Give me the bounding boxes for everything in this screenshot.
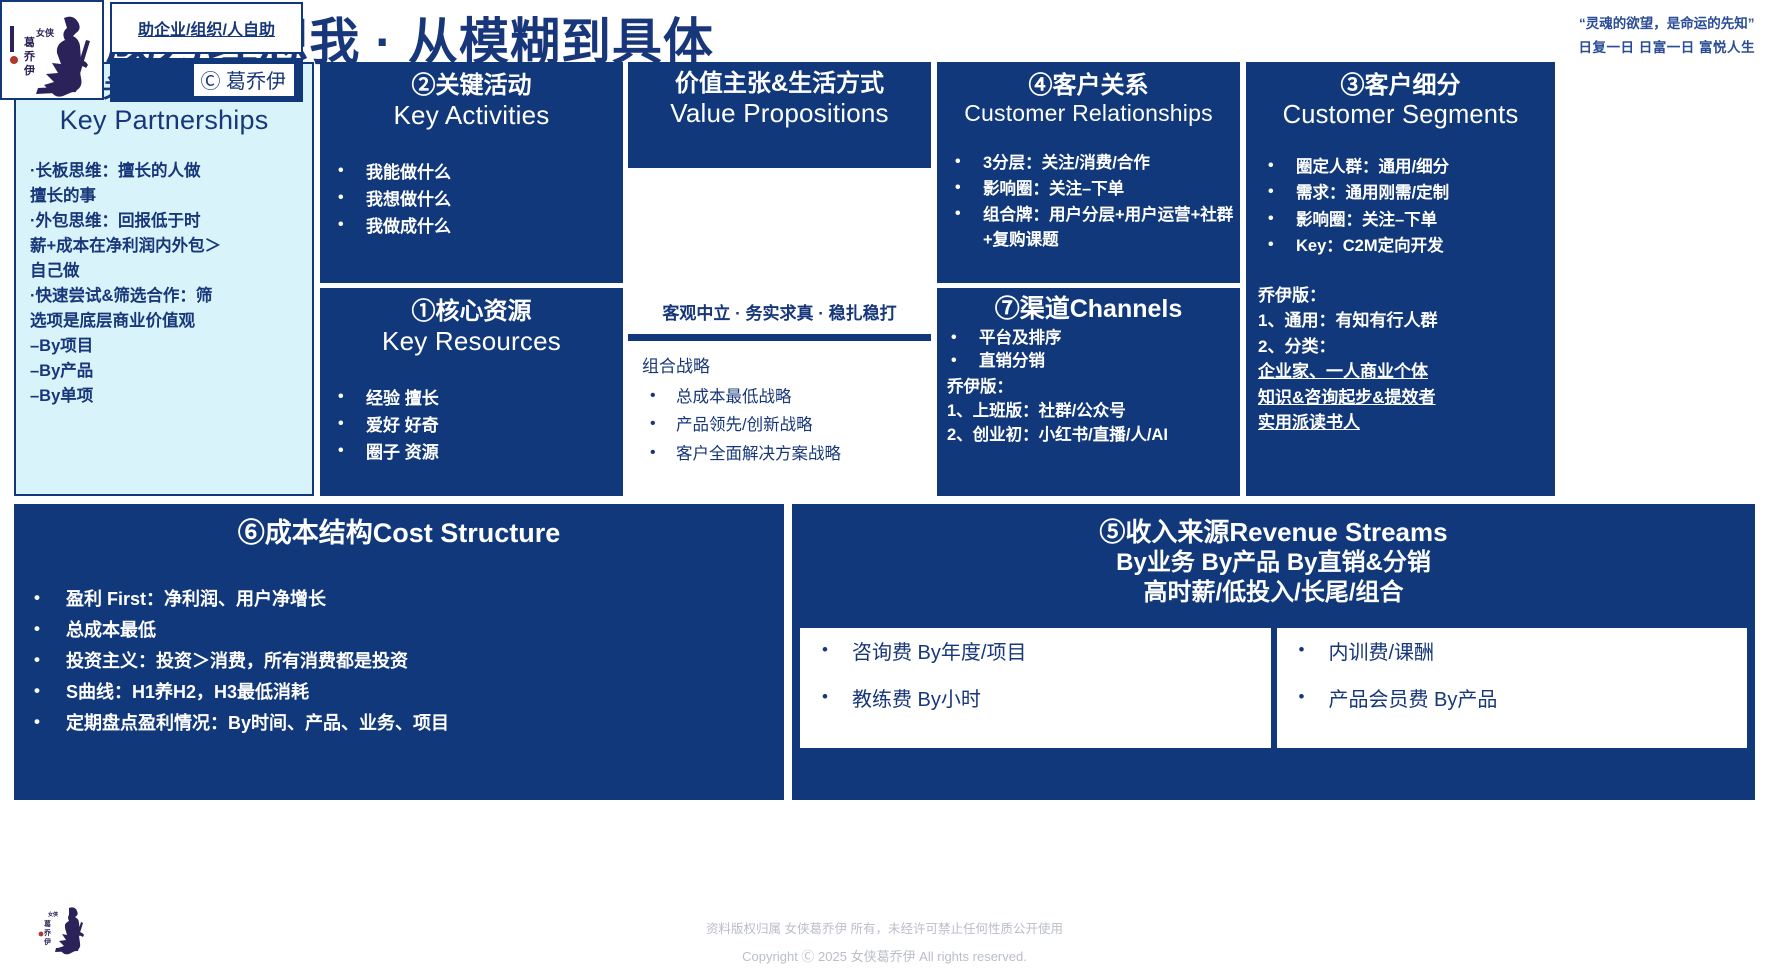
list-item: 我想做什么 bbox=[320, 186, 623, 213]
panel-cost-structure[interactable]: ⑥成本结构Cost Structure 盈利 First：净利润、用户净增长 总… bbox=[14, 504, 784, 800]
channels-notes: 乔伊版： 1、上班版：社群/公众号 2、创业初：小红书/直播/人/AI bbox=[937, 376, 1240, 448]
slide-canvas: 1.3 成为理想我 · 从模糊到具体 “灵魂的欲望，是命运的先知” 日复一日 日… bbox=[0, 0, 1769, 972]
value-proposition-motto: 客观中立 · 务实求真 · 稳扎稳打 bbox=[628, 290, 931, 332]
panel-customer-relationships[interactable]: ④客户关系 Customer Relationships 3分层：关注/消费/合… bbox=[937, 62, 1240, 283]
list-item: 产品领先/创新战略 bbox=[628, 411, 931, 439]
key-activities-heading: ②关键活动 Key Activities bbox=[320, 72, 623, 131]
kp-line: ·长板思维：擅长的人做 bbox=[30, 159, 300, 184]
list-item: 内训费/课酬 bbox=[1277, 640, 1748, 667]
customer-segments-heading: ③客户细分 Customer Segments bbox=[1246, 72, 1555, 130]
tagline: “灵魂的欲望，是命运的先知” 日复一日 日富一日 富悦人生 bbox=[1578, 12, 1755, 59]
cs-note-line: 企业家、一人商业个体 bbox=[1258, 359, 1555, 385]
list-item: 定期盘点盈利情况：By时间、产品、业务、项目 bbox=[14, 708, 784, 739]
kp-line: ·快速尝试&筛选合作：筛 bbox=[30, 284, 300, 309]
panel-value-propositions-heading[interactable]: 价值主张&生活方式 Value Propositions bbox=[628, 62, 931, 168]
list-item: 影响圈：关注–下单 bbox=[1246, 207, 1555, 233]
customer-segments-list: 圈定人群：通用/细分 需求：通用刚需/定制 影响圈：关注–下单 Key：C2M定… bbox=[1246, 154, 1555, 258]
panel-key-partnerships[interactable]: ⑧关键合作伙伴 Key Partnerships ·长板思维：擅长的人做 擅长的… bbox=[14, 62, 314, 496]
channels-note-line: 1、上班版：社群/公众号 bbox=[947, 400, 1240, 424]
list-item: 总成本最低 bbox=[14, 615, 784, 646]
list-item: Key：C2M定向开发 bbox=[1246, 233, 1555, 259]
svg-text:女侠: 女侠 bbox=[48, 911, 59, 918]
list-item: 盈利 First：净利润、用户净增长 bbox=[14, 584, 784, 615]
list-item: S曲线：H1养H2，H3最低消耗 bbox=[14, 677, 784, 708]
list-item: 教练费 By小时 bbox=[800, 687, 1271, 714]
svg-text:乔: 乔 bbox=[23, 49, 36, 63]
footer-copyright-notice: 资料版权归属 女侠葛乔伊 所有，未经许可禁止任何性质公开使用 bbox=[0, 918, 1769, 937]
list-item: 圈子 资源 bbox=[320, 439, 623, 466]
female-warrior-logo-icon: 女侠 葛 乔 伊 bbox=[2, 2, 104, 100]
cs-note-line: 乔伊版： bbox=[1258, 283, 1555, 309]
customer-relationships-heading: ④客户关系 Customer Relationships bbox=[937, 72, 1240, 127]
kp-line: –By产品 bbox=[30, 359, 300, 384]
list-item: 我能做什么 bbox=[320, 159, 623, 186]
panel-key-resources[interactable]: ①核心资源 Key Resources 经验 擅长 爱好 好奇 圈子 资源 bbox=[320, 288, 623, 496]
list-item: 产品会员费 By产品 bbox=[1277, 687, 1748, 714]
list-item: 客户全面解决方案战略 bbox=[628, 440, 931, 468]
footer-copyright-line: Copyright Ⓒ 2025 女侠葛乔伊 All rights reserv… bbox=[0, 946, 1769, 965]
cs-note-line: 知识&咨询起步&提效者 bbox=[1258, 385, 1555, 411]
list-item: 我做成什么 bbox=[320, 213, 623, 240]
key-resources-list: 经验 擅长 爱好 好奇 圈子 资源 bbox=[320, 385, 623, 467]
cost-structure-heading: ⑥成本结构Cost Structure bbox=[14, 518, 784, 550]
channels-note-line: 乔伊版： bbox=[947, 376, 1240, 400]
list-item: 咨询费 By年度/项目 bbox=[800, 640, 1271, 667]
panel-key-activities[interactable]: ②关键活动 Key Activities 我能做什么 我想做什么 我做成什么 bbox=[320, 62, 623, 283]
list-item: 总成本最低战略 bbox=[628, 383, 931, 411]
panel-customer-segments[interactable]: ③客户细分 Customer Segments 圈定人群：通用/细分 需求：通用… bbox=[1246, 62, 1555, 496]
svg-text:伊: 伊 bbox=[23, 63, 35, 77]
customer-segments-notes: 乔伊版： 1、通用：有知有行人群 2、分类： 企业家、一人商业个体 知识&咨询起… bbox=[1246, 283, 1555, 436]
revenue-column-left: 咨询费 By年度/项目 教练费 By小时 bbox=[800, 628, 1271, 748]
kp-line: –By单项 bbox=[30, 384, 300, 409]
kp-line: 自己做 bbox=[30, 259, 300, 284]
list-item: 影响圈：关注–下单 bbox=[937, 177, 1240, 203]
tagline-line-1: “灵魂的欲望，是命运的先知” bbox=[1578, 12, 1755, 36]
cs-note-line: 1、通用：有知有行人群 bbox=[1258, 308, 1555, 334]
panel-combo-strategy[interactable]: 组合战略 总成本最低战略 产品领先/创新战略 客户全面解决方案战略 bbox=[628, 344, 931, 496]
combo-strategy-label: 组合战略 bbox=[628, 352, 931, 377]
tagline-line-2: 日复一日 日富一日 富悦人生 bbox=[1578, 36, 1755, 60]
channels-list: 平台及排序 直销分销 bbox=[937, 327, 1240, 375]
list-item: 爱好 好奇 bbox=[320, 412, 623, 439]
list-item: 需求：通用刚需/定制 bbox=[1246, 180, 1555, 206]
cs-note-line: 实用派读书人 bbox=[1258, 410, 1555, 436]
panel-revenue-streams[interactable]: ⑤收入来源Revenue Streams By业务 By产品 By直销&分销 高… bbox=[792, 504, 1755, 800]
copyright-badge: Ⓒ 葛乔伊 bbox=[110, 58, 303, 102]
list-item: 平台及排序 bbox=[937, 327, 1240, 351]
channels-note-line: 2、创业初：小红书/直播/人/AI bbox=[947, 424, 1240, 448]
value-proposition-claim: 助企业/组织/人自助 bbox=[110, 2, 303, 54]
divider bbox=[628, 334, 931, 341]
customer-relationships-list: 3分层：关注/消费/合作 影响圈：关注–下单 组合牌：用户分层+用户运营+社群+… bbox=[937, 151, 1240, 253]
cost-structure-list: 盈利 First：净利润、用户净增长 总成本最低 投资主义：投资＞消费，所有消费… bbox=[14, 584, 784, 739]
svg-text:葛: 葛 bbox=[23, 35, 35, 49]
list-item: 经验 擅长 bbox=[320, 385, 623, 412]
cs-note-line: 2、分类： bbox=[1258, 334, 1555, 360]
combo-strategy-list: 总成本最低战略 产品领先/创新战略 客户全面解决方案战略 bbox=[628, 383, 931, 468]
kp-line: 擅长的事 bbox=[30, 184, 300, 209]
list-item: 直销分销 bbox=[937, 350, 1240, 374]
list-item: 3分层：关注/消费/合作 bbox=[937, 151, 1240, 177]
kp-line: ·外包思维：回报低于时 bbox=[30, 209, 300, 234]
revenue-streams-columns: 咨询费 By年度/项目 教练费 By小时 内训费/课酬 产品会员费 By产品 bbox=[800, 628, 1747, 748]
svg-text:女侠: 女侠 bbox=[36, 27, 55, 38]
list-item: 组合牌：用户分层+用户运营+社群+复购课题 bbox=[937, 203, 1240, 254]
svg-text:伊: 伊 bbox=[43, 937, 51, 946]
brand-logo: 女侠 葛 乔 伊 bbox=[0, 0, 104, 100]
channels-heading: ⑦渠道Channels bbox=[937, 295, 1240, 325]
list-item: 圈定人群：通用/细分 bbox=[1246, 154, 1555, 180]
key-activities-list: 我能做什么 我想做什么 我做成什么 bbox=[320, 159, 623, 241]
kp-line: –By项目 bbox=[30, 334, 300, 359]
kp-line: 选项是底层商业价值观 bbox=[30, 309, 300, 334]
key-partnerships-body: ·长板思维：擅长的人做 擅长的事 ·外包思维：回报低于时 薪+成本在净利润内外包… bbox=[24, 159, 304, 410]
panel-channels[interactable]: ⑦渠道Channels 平台及排序 直销分销 乔伊版： 1、上班版：社群/公众号… bbox=[937, 288, 1240, 496]
list-item: 投资主义：投资＞消费，所有消费都是投资 bbox=[14, 646, 784, 677]
key-resources-heading: ①核心资源 Key Resources bbox=[320, 298, 623, 357]
kp-line: 薪+成本在净利润内外包＞ bbox=[30, 234, 300, 259]
revenue-streams-heading: ⑤收入来源Revenue Streams By业务 By产品 By直销&分销 高… bbox=[792, 516, 1755, 608]
revenue-column-right: 内训费/课酬 产品会员费 By产品 bbox=[1277, 628, 1748, 748]
